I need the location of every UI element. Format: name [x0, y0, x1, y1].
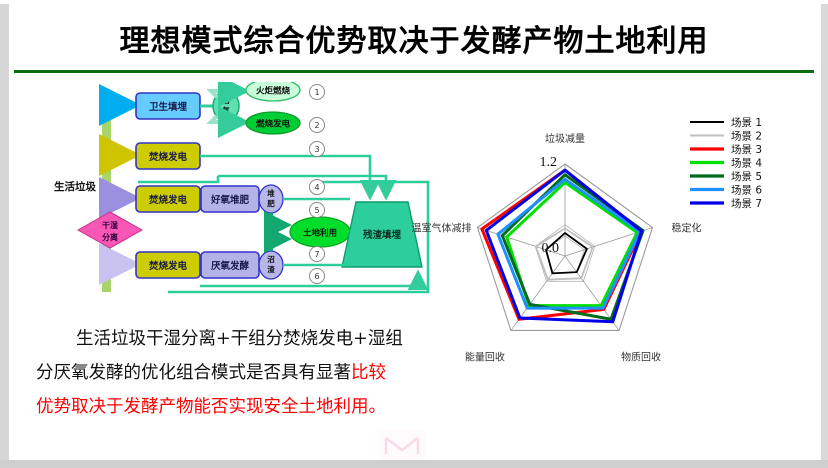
- caption-line-2-highlight: 比较: [351, 363, 386, 383]
- title-divider: [14, 70, 814, 73]
- slide-frame-top: [0, 0, 828, 4]
- radar-legend-item-1[interactable]: 场景 1: [690, 116, 762, 129]
- oval-land-use: 土地利用: [303, 228, 337, 239]
- radar-series-group: [482, 170, 643, 322]
- caption-line-2-black: 分厌氧发酵的优化组合模式是否具有显著: [36, 363, 351, 383]
- box-incineration-1: 焚烧发电: [148, 151, 188, 163]
- radar-legend-label-2: 场景 2: [731, 130, 762, 143]
- box-incineration-2: 焚烧发电: [148, 194, 188, 206]
- page-title-text: 理想模式综合优势取决于发酵产物土地利用: [120, 16, 709, 60]
- flow-source-label: 生活垃圾: [54, 180, 96, 193]
- box-landfill: 卫生填埋: [149, 101, 188, 113]
- radar-legend-label-1: 场景 1: [731, 116, 762, 129]
- box-incineration-3: 焚烧发电: [148, 260, 188, 272]
- caption-block: 生活垃圾干湿分离+干组分焚烧发电+湿组 分厌氧发酵的优化组合模式是否具有显著比较…: [36, 322, 436, 424]
- oval-flare: 火炬燃烧: [256, 86, 291, 97]
- slide-root: 理想模式综合优势取决于发酵产物土地利用: [0, 0, 828, 468]
- radar-chart: 垃圾减量稳定化物质回收能量回收温室气体减排 1.20.0 场景 1场景 2场景 …: [400, 108, 828, 408]
- oval-biogas-2: 气: [221, 105, 230, 115]
- box-aerobic: 好氧堆肥: [210, 194, 250, 206]
- route-number-2: 2: [314, 121, 319, 130]
- radar-axis-label-3: 物质回收: [621, 350, 661, 363]
- separator-label-1: 干湿: [102, 220, 118, 230]
- slide-frame-left: [0, 0, 9, 468]
- route-number-1: 1: [314, 88, 319, 97]
- caption-line-3: 优势取决于发酵产物能否实现安全土地利用。: [36, 390, 436, 424]
- page-title: 理想模式综合优势取决于发酵产物土地利用: [9, 10, 819, 66]
- route-number-5: 5: [314, 206, 319, 215]
- radar-legend-item-6[interactable]: 场景 6: [690, 184, 762, 197]
- caption-line-2: 分厌氧发酵的优化组合模式是否具有显著比较: [36, 356, 436, 390]
- caption-line-1: 生活垃圾干湿分离+干组分焚烧发电+湿组: [36, 322, 436, 356]
- radar-legend-label-3: 场景 3: [731, 143, 762, 156]
- radar-legend-item-4[interactable]: 场景 4: [690, 157, 762, 170]
- oval-power: 燃烧发电: [256, 119, 291, 130]
- radar-axis-label-4: 能量回收: [465, 350, 505, 363]
- separator-label-2: 分离: [102, 232, 118, 242]
- radar-rtick-max: 1.2: [540, 155, 558, 170]
- radar-rtick-min: 0.0: [542, 241, 560, 256]
- trunk-bar: [102, 96, 111, 292]
- route-number-4: 4: [314, 183, 319, 192]
- oval-compost-2: 肥: [267, 198, 275, 208]
- watermark-logo: [376, 428, 428, 462]
- radar-legend-item-5[interactable]: 场景 5: [690, 170, 762, 183]
- route-number-3: 3: [314, 145, 319, 154]
- waste-treatment-flowchart: 生活垃圾 干湿 分离 卫生填埋 焚烧发电 焚烧发电 好氧堆肥 焚烧发电 厌氧发酵…: [18, 82, 438, 322]
- radar-legend-label-4: 场景 4: [731, 157, 762, 170]
- radar-axis-label-2: 稳定化: [671, 222, 701, 235]
- oval-residue-1: 沼: [267, 254, 275, 264]
- radar-legend-label-5: 场景 5: [731, 170, 762, 183]
- oval-compost-1: 堆: [267, 188, 275, 198]
- box-anaerobic: 厌氧发酵: [211, 260, 250, 272]
- radar-legend-item-7[interactable]: 场景 7: [690, 197, 762, 210]
- route-number-6: 6: [314, 272, 319, 281]
- radar-legend-label-6: 场景 6: [731, 184, 762, 197]
- oval-biogas-1: 沼: [222, 95, 230, 105]
- route-number-7: 7: [314, 250, 319, 259]
- radar-series-6: [498, 179, 640, 308]
- radar-legend-label-7: 场景 7: [731, 197, 762, 210]
- radar-legend-item-2[interactable]: 场景 2: [690, 130, 762, 143]
- radar-legend-item-3[interactable]: 场景 3: [690, 143, 762, 156]
- oval-residue-2: 渣: [267, 264, 275, 274]
- radar-axis-label-5: 温室气体减排: [412, 222, 472, 235]
- trapezoid-label: 残渣填埋: [363, 229, 402, 241]
- radar-legend: 场景 1场景 2场景 3场景 4场景 5场景 6场景 7: [690, 116, 762, 210]
- radar-axis-label-1: 垃圾减量: [545, 132, 585, 145]
